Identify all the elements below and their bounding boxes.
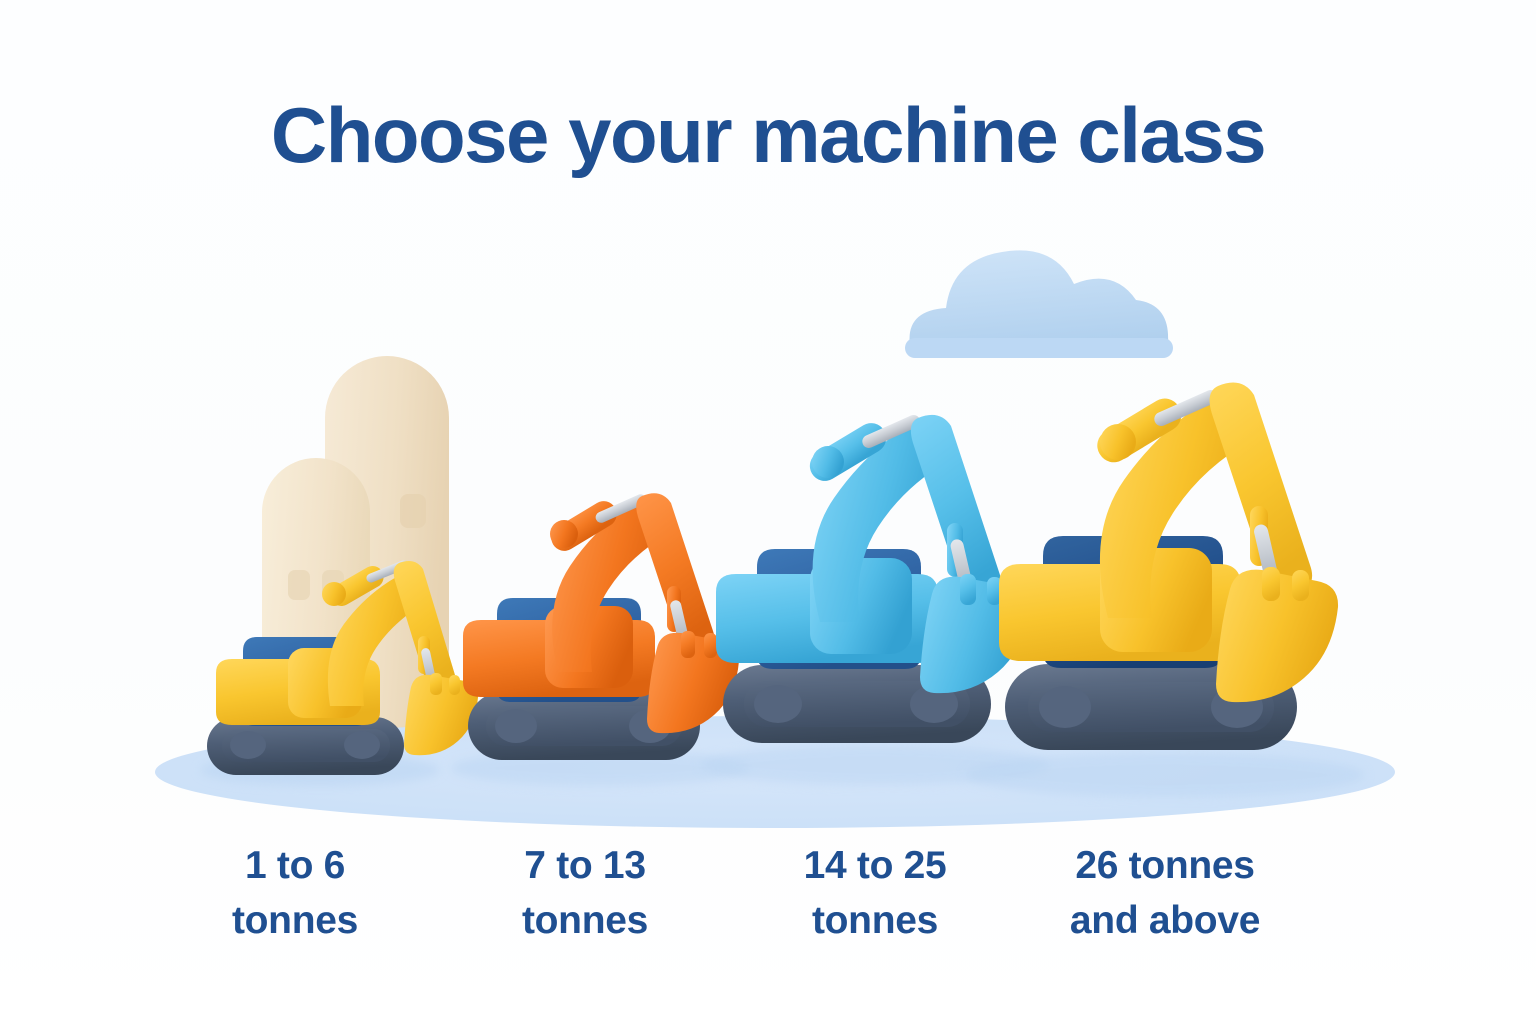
- class-label-4-line2: and above: [1020, 893, 1310, 948]
- machine-4-stick: [1210, 383, 1313, 596]
- class-label-3-line1: 14 to 25: [730, 838, 1020, 893]
- machine-4-shadow: [965, 753, 1365, 797]
- machine-4-excavator[interactable]: [965, 383, 1365, 797]
- class-label-2[interactable]: 7 to 13 tonnes: [440, 838, 730, 949]
- class-label-4-line1: 26 tonnes: [1020, 838, 1310, 893]
- machine-3-stick: [911, 415, 1002, 603]
- cloud: [905, 250, 1173, 358]
- class-label-2-line1: 7 to 13: [440, 838, 730, 893]
- class-label-2-line2: tonnes: [440, 893, 730, 948]
- class-label-1-line1: 1 to 6: [150, 838, 440, 893]
- machine-class-labels: 1 to 6 tonnes 7 to 13 tonnes 14 to 25 to…: [150, 838, 1400, 949]
- class-label-1[interactable]: 1 to 6 tonnes: [150, 838, 440, 949]
- building-window: [288, 570, 310, 600]
- building-window: [400, 494, 426, 528]
- class-label-3[interactable]: 14 to 25 tonnes: [730, 838, 1020, 949]
- machine-4-bucket: [1216, 567, 1338, 702]
- class-label-3-line2: tonnes: [730, 893, 1020, 948]
- machine-class-illustration: Choose your machine class: [0, 0, 1536, 1024]
- class-label-4[interactable]: 26 tonnes and above: [1020, 838, 1310, 949]
- class-label-1-line2: tonnes: [150, 893, 440, 948]
